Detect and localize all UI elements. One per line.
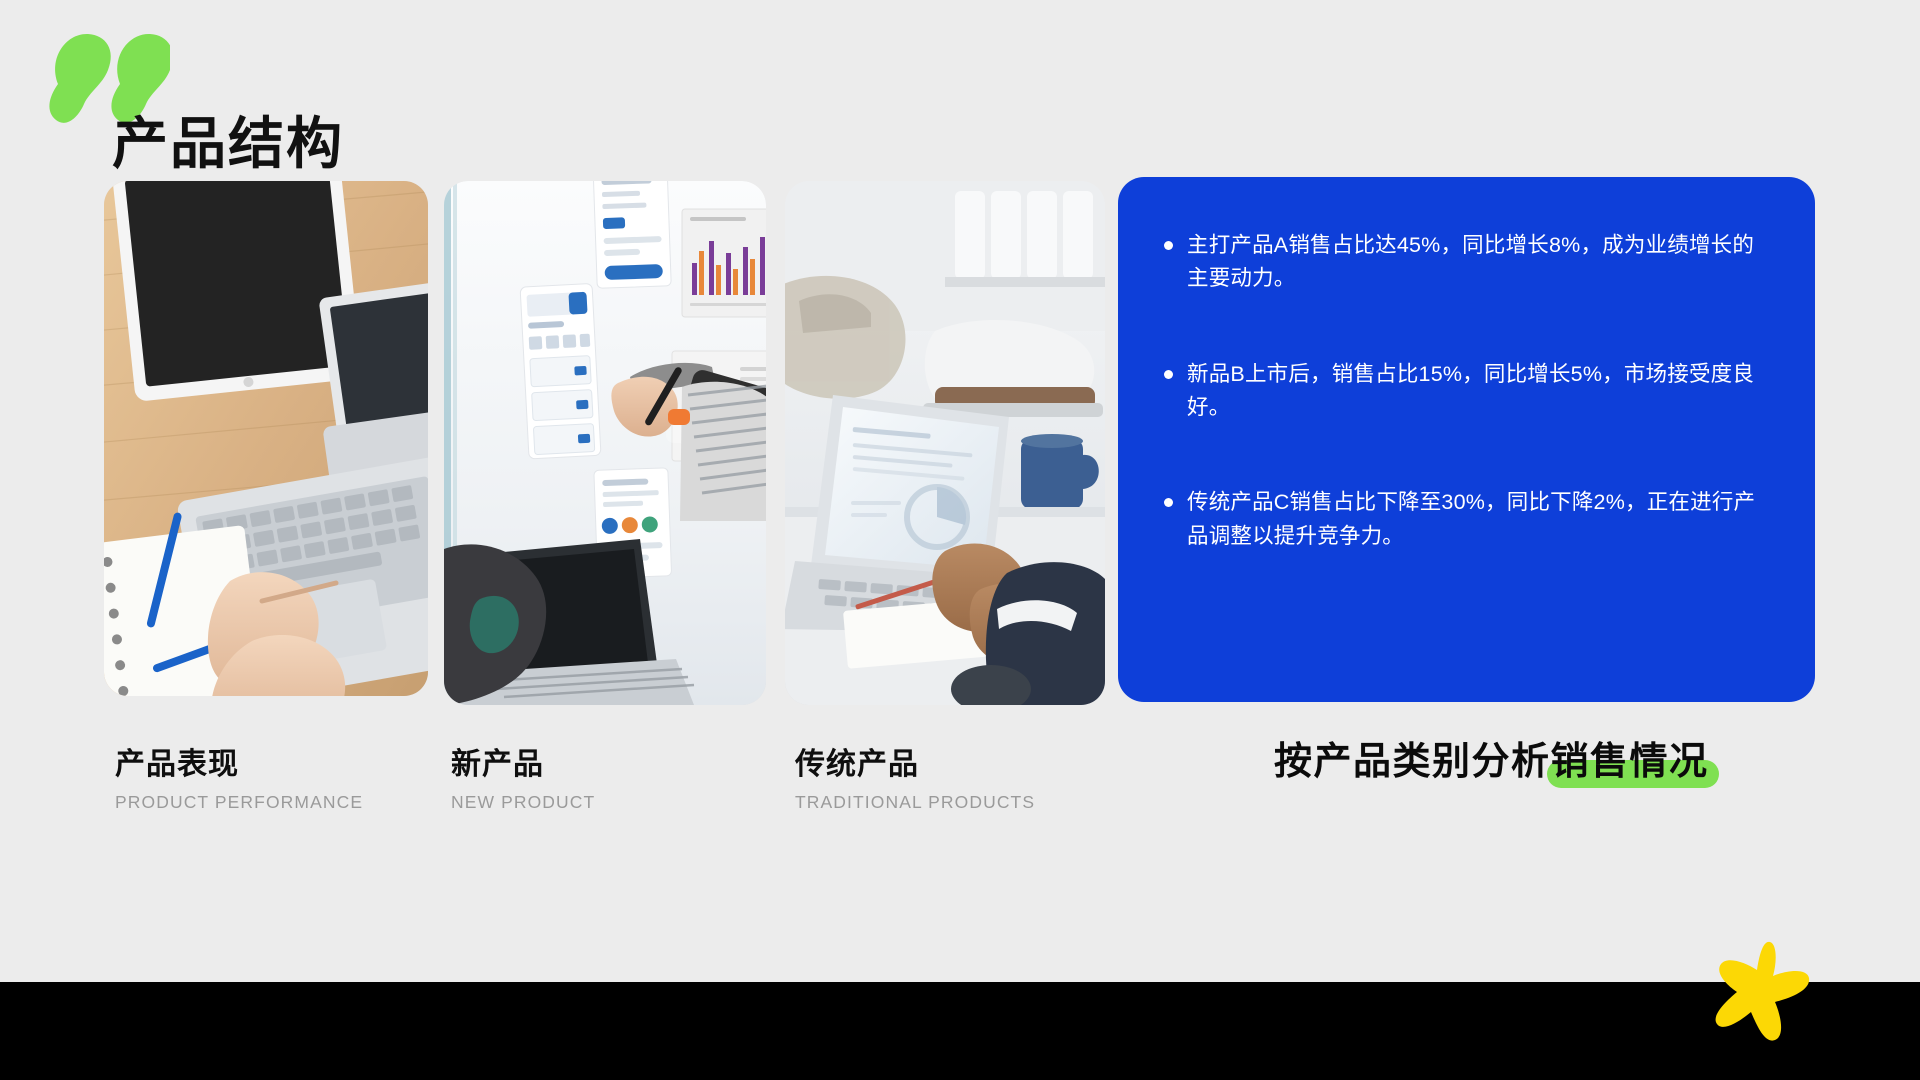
bullet-item-product-b: 新品B上市后，销售占比15%，同比增长5%，市场接受度良好。 (1164, 358, 1769, 425)
bullet-text: 主打产品A销售占比达45%，同比增长8%，成为业绩增长的主要动力。 (1187, 229, 1767, 296)
caption-cn: 产品表现 (115, 748, 363, 783)
caption-en: TRADITIONAL PRODUCTS (795, 792, 1035, 813)
photo-new-product (444, 181, 766, 705)
page-title: 产品结构 (112, 116, 344, 172)
caption-product-performance: 产品表现 PRODUCT PERFORMANCE (115, 748, 363, 813)
card-traditional-products[interactable] (785, 181, 1105, 705)
bullet-item-product-c: 传统产品C销售占比下降至30%，同比下降2%，正在进行产品调整以提升竞争力。 (1164, 486, 1769, 553)
bullet-item-product-a: 主打产品A销售占比达45%，同比增长8%，成为业绩增长的主要动力。 (1164, 229, 1769, 296)
bullet-list: 主打产品A销售占比达45%，同比增长8%，成为业绩增长的主要动力。 新品B上市后… (1164, 229, 1769, 553)
photo-traditional-products (785, 181, 1105, 705)
slide-root: 产品结构 (0, 0, 1920, 1080)
sales-analysis-headline: 按产品类别分析销售情况 (1274, 740, 1709, 786)
bullet-text: 新品B上市后，销售占比15%，同比增长5%，市场接受度良好。 (1187, 358, 1767, 425)
card-product-performance[interactable] (104, 181, 428, 696)
sales-analysis-panel: 主打产品A销售占比达45%，同比增长8%，成为业绩增长的主要动力。 新品B上市后… (1118, 177, 1815, 702)
bullet-dot-icon (1164, 241, 1173, 250)
bullet-text: 传统产品C销售占比下降至30%，同比下降2%，正在进行产品调整以提升竞争力。 (1187, 486, 1767, 553)
bullet-dot-icon (1164, 370, 1173, 379)
photo-product-performance (104, 181, 428, 696)
bullet-dot-icon (1164, 498, 1173, 507)
caption-cn: 新产品 (451, 748, 595, 783)
caption-en: PRODUCT PERFORMANCE (115, 792, 363, 813)
caption-en: NEW PRODUCT (451, 792, 595, 813)
headline-plain-text: 按产品类别分析 (1274, 741, 1551, 783)
bottom-bar (0, 982, 1920, 1080)
star-icon (1715, 940, 1811, 1050)
caption-traditional-products: 传统产品 TRADITIONAL PRODUCTS (795, 748, 1035, 813)
caption-cn: 传统产品 (795, 748, 1035, 783)
card-new-product[interactable] (444, 181, 766, 705)
headline-highlighted-text: 销售情况 (1551, 740, 1709, 786)
caption-new-product: 新产品 NEW PRODUCT (451, 748, 595, 813)
